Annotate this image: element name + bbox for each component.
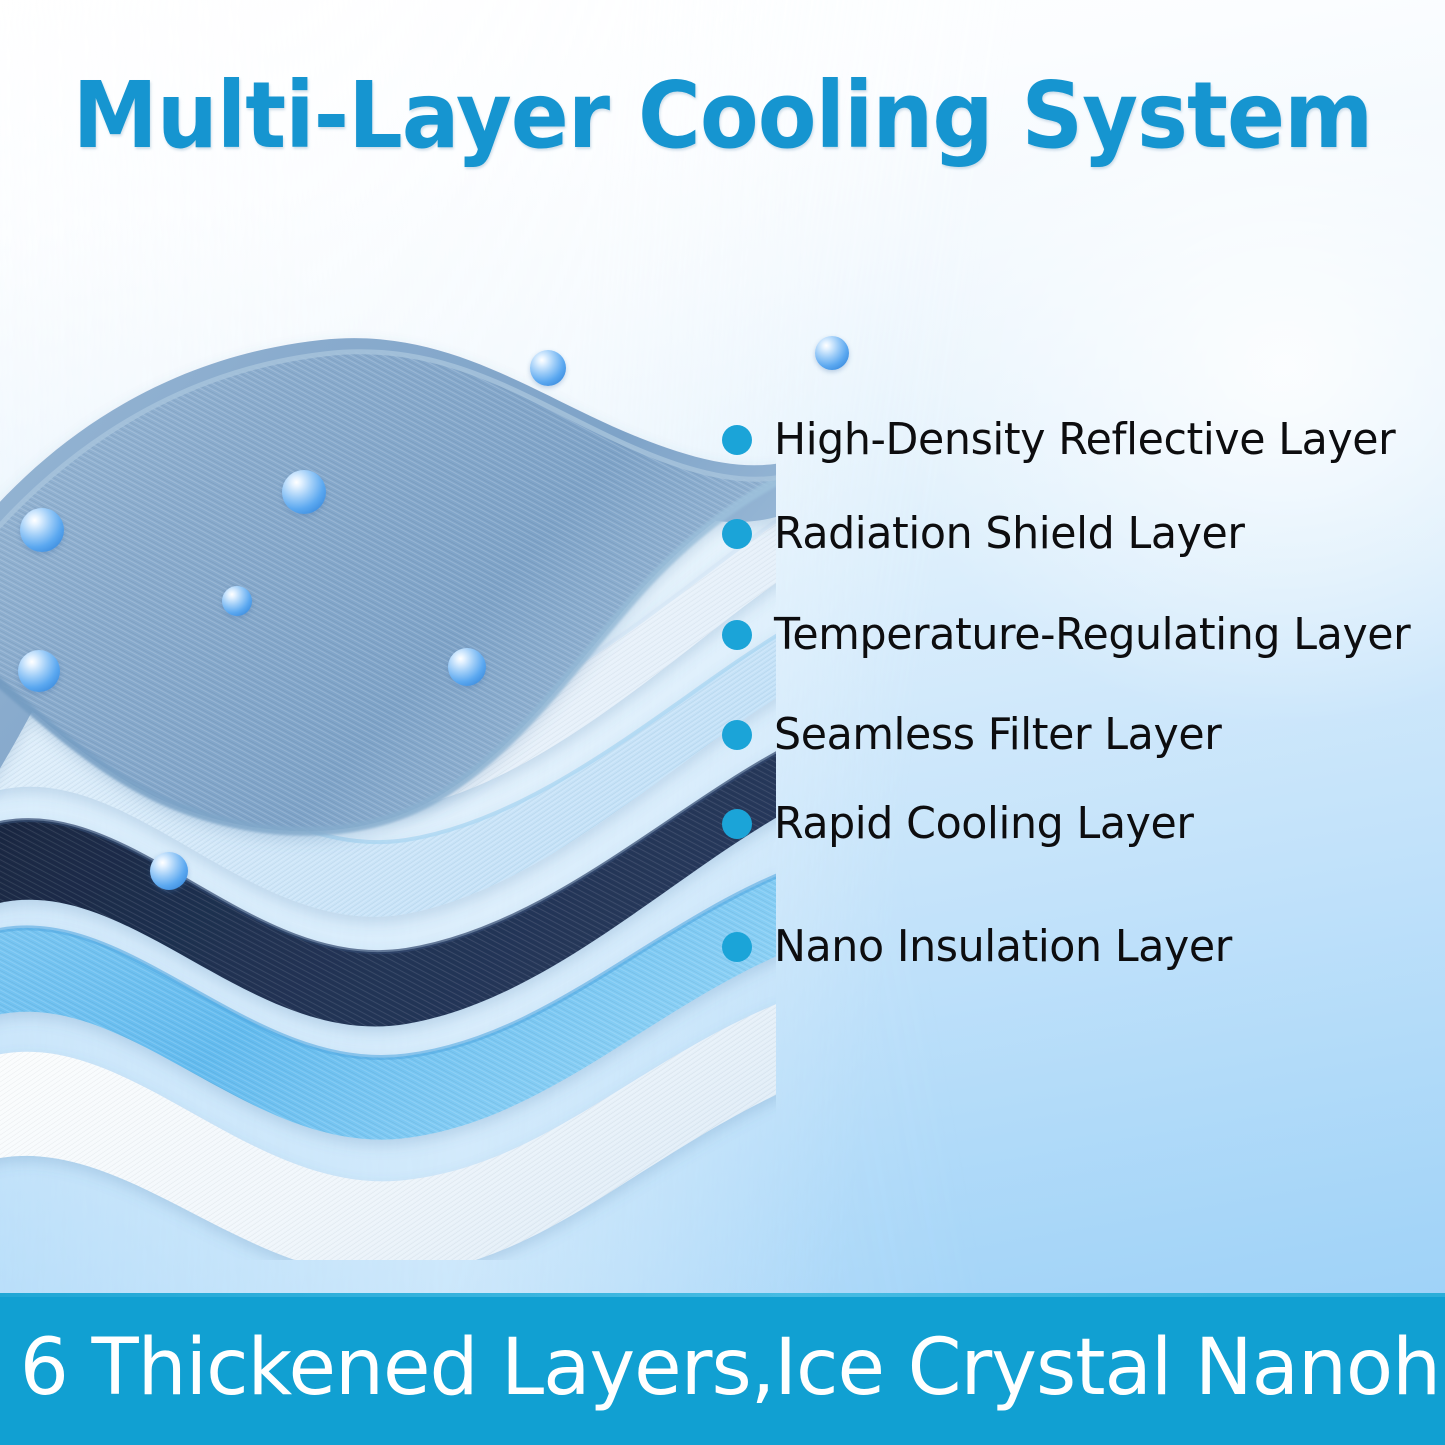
bullet-dot-icon <box>722 809 752 839</box>
bullet-dot-icon <box>722 620 752 650</box>
footer-banner-text: 6 Thickened Layers,Ice Crystal Nanoh <box>0 1323 1440 1413</box>
water-droplet <box>815 336 849 370</box>
bullet-dot-icon <box>722 932 752 962</box>
list-item-label: Temperature-Regulating Layer <box>774 609 1410 660</box>
footer-banner: 6 Thickened Layers,Ice Crystal Nanoh <box>0 1293 1445 1445</box>
list-item-label: Radiation Shield Layer <box>774 508 1245 559</box>
list-item[interactable]: Rapid Cooling Layer <box>722 798 1207 849</box>
poster-canvas: Multi-Layer Cooling System <box>0 0 1445 1445</box>
bullet-dot-icon <box>722 720 752 750</box>
list-item[interactable]: Temperature-Regulating Layer <box>722 609 1430 660</box>
list-item-label: Seamless Filter Layer <box>774 709 1221 760</box>
bullet-dot-icon <box>722 425 752 455</box>
list-item-label: High-Density Reflective Layer <box>774 414 1395 465</box>
list-item[interactable]: Nano Insulation Layer <box>722 921 1246 972</box>
bullet-dot-icon <box>722 519 752 549</box>
list-item-label: Rapid Cooling Layer <box>774 798 1194 849</box>
banner-top-edge <box>0 1293 1445 1297</box>
page-title: Multi-Layer Cooling System <box>51 68 1395 165</box>
list-item-label: Nano Insulation Layer <box>774 921 1232 972</box>
fabric-stack-illustration <box>0 300 776 1260</box>
fabric-stack-svg <box>0 300 776 1260</box>
list-item[interactable]: High-Density Reflective Layer <box>722 414 1415 465</box>
list-item[interactable]: Radiation Shield Layer <box>722 508 1259 559</box>
list-item[interactable]: Seamless Filter Layer <box>722 709 1235 760</box>
